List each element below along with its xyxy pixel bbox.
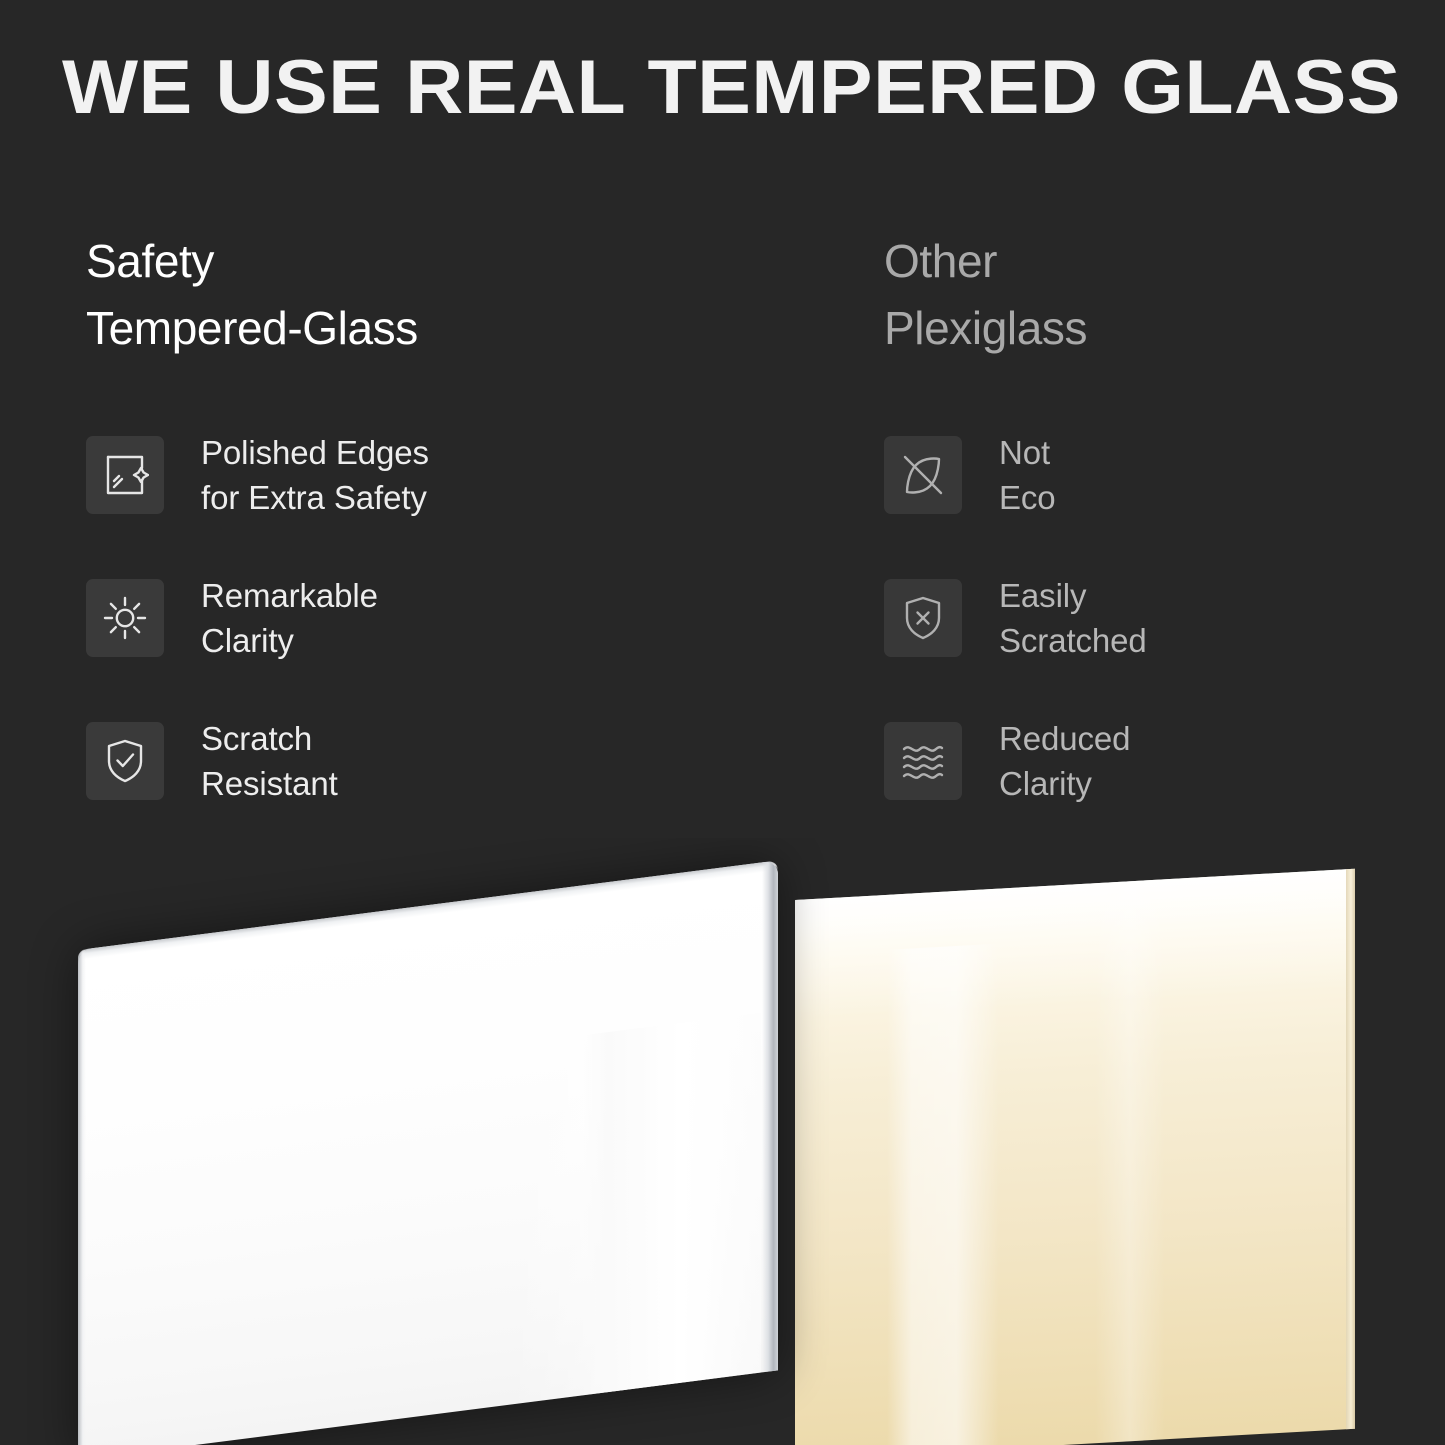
feature-item: Remarkable Clarity (86, 579, 646, 657)
column-plexiglass: Other Plexiglass Not Eco (884, 228, 1444, 800)
feature-item: Easily Scratched (884, 579, 1444, 657)
feature-item: Reduced Clarity (884, 722, 1444, 800)
comparison-columns: Safety Tempered-Glass Polished Edges for… (0, 228, 1445, 838)
plexiglass-sheen (887, 944, 999, 1445)
tempered-glass-reflection (583, 1013, 761, 1396)
plexiglass-sheen-secondary (1095, 879, 1165, 1443)
feature-label: Reduced Clarity (999, 716, 1130, 806)
shield-x-icon (884, 579, 962, 657)
tempered-glass-top-bevel (78, 860, 778, 960)
column-title-tempered-glass: Safety Tempered-Glass (86, 228, 646, 362)
plexiglass-panel (795, 869, 1355, 1445)
glass-panels-scene (0, 838, 1445, 1445)
tempered-glass-left-bevel (78, 949, 86, 1445)
feature-list-plexiglass: Not Eco Easily Scratched (884, 436, 1444, 800)
tempered-glass-right-bevel (762, 860, 778, 1372)
feature-item: Not Eco (884, 436, 1444, 514)
wavy-lines-distortion-icon (884, 722, 962, 800)
feature-list-tempered-glass: Polished Edges for Extra Safety (86, 436, 646, 800)
plexiglass-top-glow (795, 869, 1355, 1020)
feature-item: Scratch Resistant (86, 722, 646, 800)
feature-label: Not Eco (999, 430, 1056, 520)
feature-label: Easily Scratched (999, 573, 1147, 663)
shield-check-icon (86, 722, 164, 800)
leaf-crossed-out-icon (884, 436, 962, 514)
plexiglass-right-edge (1346, 869, 1355, 1430)
polished-glass-sparkle-icon (86, 436, 164, 514)
feature-label: Polished Edges for Extra Safety (201, 430, 429, 520)
comparison-infographic: WE USE REAL TEMPERED GLASS Safety Temper… (0, 0, 1445, 1445)
column-title-plexiglass: Other Plexiglass (884, 228, 1444, 362)
tempered-glass-panel (78, 860, 778, 1445)
feature-label: Scratch Resistant (201, 716, 338, 806)
feature-label: Remarkable Clarity (201, 573, 378, 663)
sun-brightness-icon (86, 579, 164, 657)
column-tempered-glass: Safety Tempered-Glass Polished Edges for… (86, 228, 646, 800)
feature-item: Polished Edges for Extra Safety (86, 436, 646, 514)
page-headline: WE USE REAL TEMPERED GLASS (62, 42, 1445, 134)
